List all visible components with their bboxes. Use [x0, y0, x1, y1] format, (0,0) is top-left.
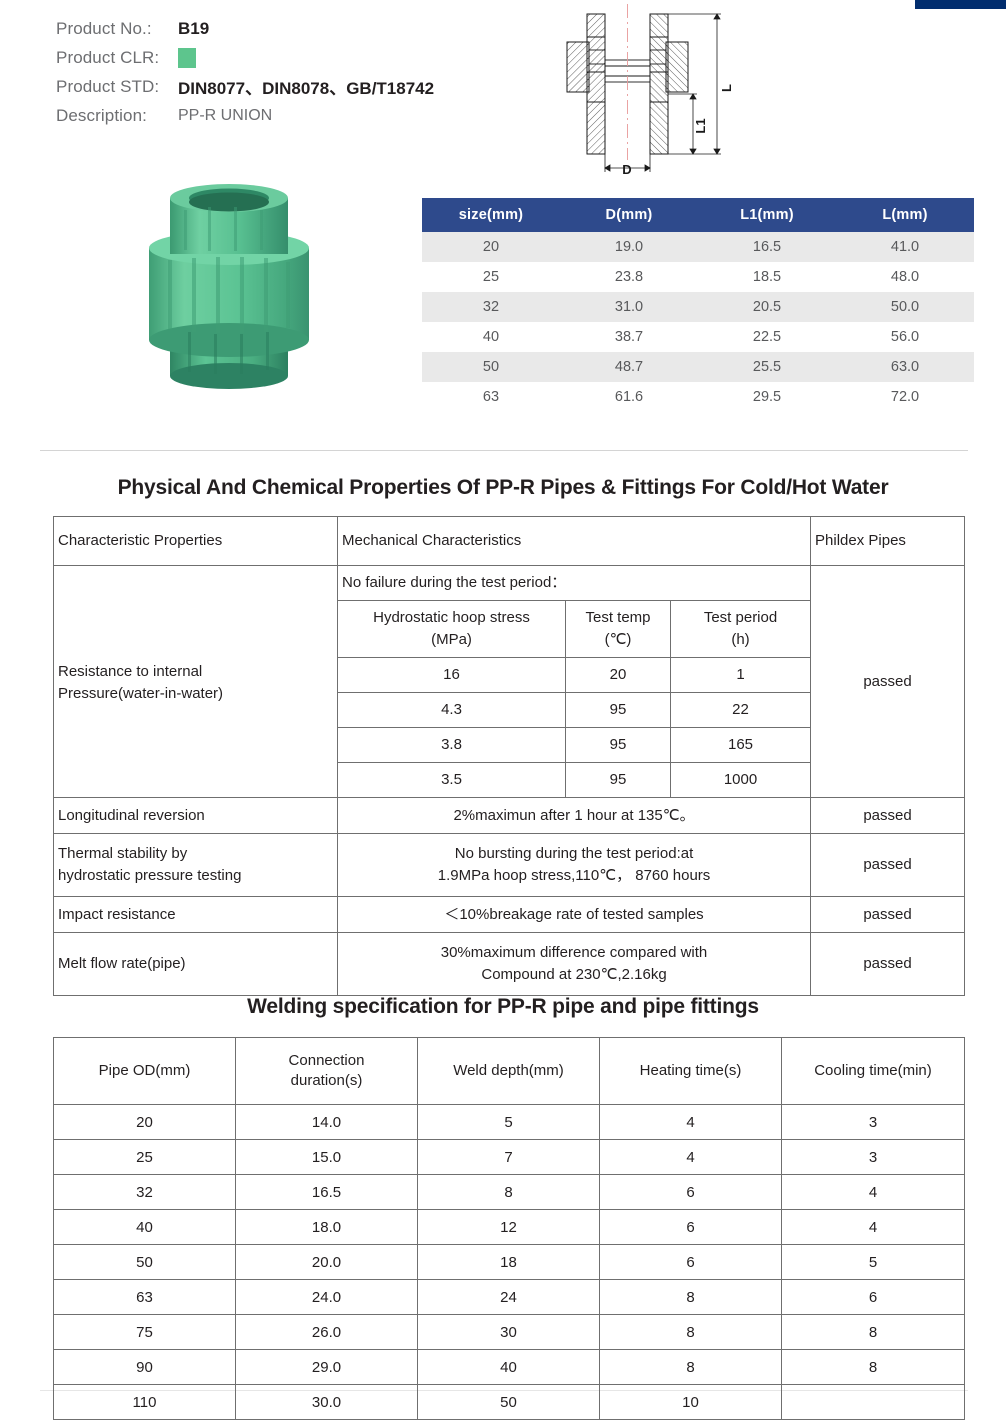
resistance-cell-period: 22: [671, 693, 811, 728]
resistance-cell-period: 165: [671, 728, 811, 763]
welding-cell: 4: [600, 1105, 782, 1140]
size-cell: 61.6: [560, 382, 698, 412]
property-value: 2%maximun after 1 hour at 135℃。: [338, 798, 811, 834]
welding-cell: 8: [418, 1175, 600, 1210]
welding-col-heating-line1: Heating time(s): [604, 1061, 777, 1081]
welding-cell: 6: [600, 1245, 782, 1280]
size-cell: 41.0: [836, 232, 974, 262]
size-cell: 29.5: [698, 382, 836, 412]
property-value: 30%maximum difference compared with Comp…: [338, 933, 811, 996]
size-cell: 50: [422, 352, 560, 382]
meta-label-product-std: Product STD:: [56, 77, 178, 97]
size-cell: 25: [422, 262, 560, 292]
welding-header-row: Pipe OD(mm) Connection duration(s) Weld …: [54, 1038, 965, 1105]
size-specification-table: size(mm) D(mm) L1(mm) L(mm) 20 19.0 16.5…: [422, 198, 974, 412]
property-value-line1: No bursting during the test period:at: [342, 843, 806, 865]
resistance-cell-stress: 3.8: [338, 728, 566, 763]
table-row: 50 48.7 25.5 63.0: [422, 352, 974, 382]
properties-header-characteristic: Characteristic Properties: [54, 517, 338, 566]
subheader-period: Test period (h): [671, 601, 811, 658]
subheader-temp-line2: (℃): [570, 629, 666, 651]
welding-cell: 20: [54, 1105, 236, 1140]
meta-row-product-no: Product No.: B19: [56, 14, 526, 43]
property-name: Longitudinal reversion: [54, 798, 338, 834]
dimension-label-d: D: [622, 162, 631, 177]
welding-cell: 63: [54, 1280, 236, 1315]
welding-cell: 14.0: [236, 1105, 418, 1140]
properties-header-result: Phildex Pipes: [811, 517, 965, 566]
welding-cell: 8: [782, 1315, 965, 1350]
property-name: Thermal stability by hydrostatic pressur…: [54, 834, 338, 897]
property-result: passed: [811, 897, 965, 933]
welding-col-pipe-od-line1: Pipe OD(mm): [58, 1061, 231, 1081]
table-row: 40 38.7 22.5 56.0: [422, 322, 974, 352]
welding-cell: 90: [54, 1350, 236, 1385]
subheader-temp-line1: Test temp: [570, 607, 666, 629]
properties-table: Characteristic Properties Mechanical Cha…: [53, 516, 965, 996]
size-col-l1: L1(mm): [698, 198, 836, 232]
table-row: 90 29.0 40 8 8: [54, 1350, 965, 1385]
property-name-line1: Thermal stability by: [58, 843, 333, 865]
table-row: 110 30.0 50 10: [54, 1385, 965, 1420]
welding-col-weld-depth: Weld depth(mm): [418, 1038, 600, 1105]
welding-cell: 8: [782, 1350, 965, 1385]
property-result: passed: [811, 834, 965, 897]
property-value: No bursting during the test period:at 1.…: [338, 834, 811, 897]
subheader-stress: Hydrostatic hoop stress (MPa): [338, 601, 566, 658]
welding-cell: 110: [54, 1385, 236, 1420]
resistance-cell-stress: 4.3: [338, 693, 566, 728]
welding-cell: 26.0: [236, 1315, 418, 1350]
welding-col-cooling-time: Cooling time(min): [782, 1038, 965, 1105]
welding-cell: 18: [418, 1245, 600, 1280]
size-col-l: L(mm): [836, 198, 974, 232]
subheader-stress-line2: (MPa): [342, 629, 561, 651]
size-cell: 48.0: [836, 262, 974, 292]
product-meta-block: Product No.: B19 Product CLR: Product ST…: [56, 14, 526, 130]
table-row: 75 26.0 30 8 8: [54, 1315, 965, 1350]
subheader-stress-line1: Hydrostatic hoop stress: [342, 607, 561, 629]
welding-cell: 16.5: [236, 1175, 418, 1210]
subheader-temp: Test temp (℃): [566, 601, 671, 658]
welding-cell: 6: [600, 1175, 782, 1210]
welding-cell: 3: [782, 1140, 965, 1175]
welding-cell: 8: [600, 1280, 782, 1315]
welding-cell: 30: [418, 1315, 600, 1350]
properties-section-title: Physical And Chemical Properties Of PP-R…: [0, 476, 1006, 500]
welding-cell: [782, 1385, 965, 1420]
welding-cell: 5: [418, 1105, 600, 1140]
table-row: 32 31.0 20.5 50.0: [422, 292, 974, 322]
resistance-result: passed: [811, 566, 965, 798]
resistance-cell-period: 1: [671, 658, 811, 693]
table-row: 63 24.0 24 8 6: [54, 1280, 965, 1315]
meta-label-description: Description:: [56, 106, 178, 126]
welding-cell: 18.0: [236, 1210, 418, 1245]
resistance-name-cell: Resistance to internal Pressure(water-in…: [54, 566, 338, 798]
size-cell: 63: [422, 382, 560, 412]
welding-cell: 40: [418, 1350, 600, 1385]
welding-cell: 6: [600, 1210, 782, 1245]
welding-col-heating-time: Heating time(s): [600, 1038, 782, 1105]
table-row: 20 14.0 5 4 3: [54, 1105, 965, 1140]
welding-col-cooling-line1: Cooling time(min): [786, 1061, 960, 1081]
welding-cell: 29.0: [236, 1350, 418, 1385]
welding-cell: 24: [418, 1280, 600, 1315]
resistance-note-row: Resistance to internal Pressure(water-in…: [54, 566, 965, 601]
meta-value-product-std: DIN8077、DIN8078、GB/T18742: [178, 74, 434, 99]
welding-col-connection-duration: Connection duration(s): [236, 1038, 418, 1105]
size-cell: 72.0: [836, 382, 974, 412]
welding-cell: 5: [782, 1245, 965, 1280]
table-row: 20 19.0 16.5 41.0: [422, 232, 974, 262]
technical-drawing: L L1 D: [545, 2, 755, 177]
size-cell: 20: [422, 232, 560, 262]
welding-cell: 25: [54, 1140, 236, 1175]
welding-cell: 50: [418, 1385, 600, 1420]
size-cell: 56.0: [836, 322, 974, 352]
size-cell: 25.5: [698, 352, 836, 382]
welding-col-weld-depth-line1: Weld depth(mm): [422, 1061, 595, 1081]
welding-cell: 30.0: [236, 1385, 418, 1420]
welding-cell: 7: [418, 1140, 600, 1175]
meta-row-product-std: Product STD: DIN8077、DIN8078、GB/T18742: [56, 72, 526, 101]
welding-cell: 4: [600, 1140, 782, 1175]
table-row: Impact resistance ＜10%breakage rate of t…: [54, 897, 965, 933]
welding-cell: 32: [54, 1175, 236, 1210]
welding-cell: 4: [782, 1210, 965, 1245]
resistance-cell-stress: 3.5: [338, 763, 566, 798]
table-row: 50 20.0 18 6 5: [54, 1245, 965, 1280]
welding-specification-table: Pipe OD(mm) Connection duration(s) Weld …: [53, 1037, 965, 1420]
property-value-line2: Compound at 230℃,2.16kg: [342, 964, 806, 986]
meta-row-description: Description: PP-R UNION: [56, 101, 526, 130]
resistance-cell-temp: 20: [566, 658, 671, 693]
welding-cell: 4: [782, 1175, 965, 1210]
property-value-line2: 1.9MPa hoop stress,110℃， 8760 hours: [342, 865, 806, 887]
size-cell: 23.8: [560, 262, 698, 292]
resistance-cell-period: 1000: [671, 763, 811, 798]
welding-cell: 15.0: [236, 1140, 418, 1175]
dimension-label-l1: L1: [693, 118, 708, 133]
size-col-d: D(mm): [560, 198, 698, 232]
subheader-period-line2: (h): [675, 629, 806, 651]
size-cell: 31.0: [560, 292, 698, 322]
meta-row-product-clr: Product CLR:: [56, 43, 526, 72]
table-row: 63 61.6 29.5 72.0: [422, 382, 974, 412]
welding-cell: 75: [54, 1315, 236, 1350]
table-row: 32 16.5 8 6 4: [54, 1175, 965, 1210]
size-col-size: size(mm): [422, 198, 560, 232]
table-row: Longitudinal reversion 2%maximun after 1…: [54, 798, 965, 834]
welding-cell: 20.0: [236, 1245, 418, 1280]
resistance-note: No failure during the test period：: [338, 566, 811, 601]
table-row: 25 23.8 18.5 48.0: [422, 262, 974, 292]
welding-col-pipe-od: Pipe OD(mm): [54, 1038, 236, 1105]
resistance-cell-temp: 95: [566, 763, 671, 798]
welding-section-title: Welding specification for PP-R pipe and …: [0, 995, 1006, 1019]
size-cell: 18.5: [698, 262, 836, 292]
property-name: Melt flow rate(pipe): [54, 933, 338, 996]
size-cell: 22.5: [698, 322, 836, 352]
meta-value-description: PP-R UNION: [178, 107, 272, 125]
resistance-cell-stress: 16: [338, 658, 566, 693]
size-cell: 50.0: [836, 292, 974, 322]
subheader-period-line1: Test period: [675, 607, 806, 629]
size-cell: 38.7: [560, 322, 698, 352]
property-value: ＜10%breakage rate of tested samples: [338, 897, 811, 933]
welding-cell: 6: [782, 1280, 965, 1315]
color-swatch: [178, 48, 196, 68]
size-cell: 40: [422, 322, 560, 352]
size-cell: 48.7: [560, 352, 698, 382]
section-divider-top: [40, 450, 968, 451]
meta-label-product-clr: Product CLR:: [56, 48, 178, 68]
size-cell: 32: [422, 292, 560, 322]
resistance-cell-temp: 95: [566, 728, 671, 763]
resistance-name-line2: Pressure(water-in-water): [58, 683, 333, 705]
welding-cell: 8: [600, 1315, 782, 1350]
resistance-cell-temp: 95: [566, 693, 671, 728]
table-row: Thermal stability by hydrostatic pressur…: [54, 834, 965, 897]
product-photo: [122, 176, 336, 394]
welding-cell: 8: [600, 1350, 782, 1385]
welding-col-connection-line1: Connection: [240, 1051, 413, 1071]
welding-cell: 12: [418, 1210, 600, 1245]
meta-value-product-no: B19: [178, 19, 209, 39]
property-name-line2: hydrostatic pressure testing: [58, 865, 333, 887]
welding-cell: 3: [782, 1105, 965, 1140]
size-cell: 19.0: [560, 232, 698, 262]
welding-cell: 10: [600, 1385, 782, 1420]
property-value-line1: 30%maximum difference compared with: [342, 942, 806, 964]
resistance-name-line1: Resistance to internal: [58, 661, 333, 683]
property-result: passed: [811, 933, 965, 996]
welding-cell: 50: [54, 1245, 236, 1280]
welding-cell: 24.0: [236, 1280, 418, 1315]
table-row: 40 18.0 12 6 4: [54, 1210, 965, 1245]
corner-accent-bar: [915, 0, 1006, 9]
size-table-header-row: size(mm) D(mm) L1(mm) L(mm): [422, 198, 974, 232]
size-cell: 16.5: [698, 232, 836, 262]
properties-header-row: Characteristic Properties Mechanical Cha…: [54, 517, 965, 566]
size-cell: 63.0: [836, 352, 974, 382]
size-cell: 20.5: [698, 292, 836, 322]
table-row: Melt flow rate(pipe) 30%maximum differen…: [54, 933, 965, 996]
welding-col-connection-line2: duration(s): [240, 1071, 413, 1091]
welding-cell: 40: [54, 1210, 236, 1245]
property-result: passed: [811, 798, 965, 834]
dimension-label-l: L: [719, 84, 734, 92]
table-row: 25 15.0 7 4 3: [54, 1140, 965, 1175]
property-name: Impact resistance: [54, 897, 338, 933]
meta-label-product-no: Product No.:: [56, 19, 178, 39]
properties-header-mechanical: Mechanical Characteristics: [338, 517, 811, 566]
